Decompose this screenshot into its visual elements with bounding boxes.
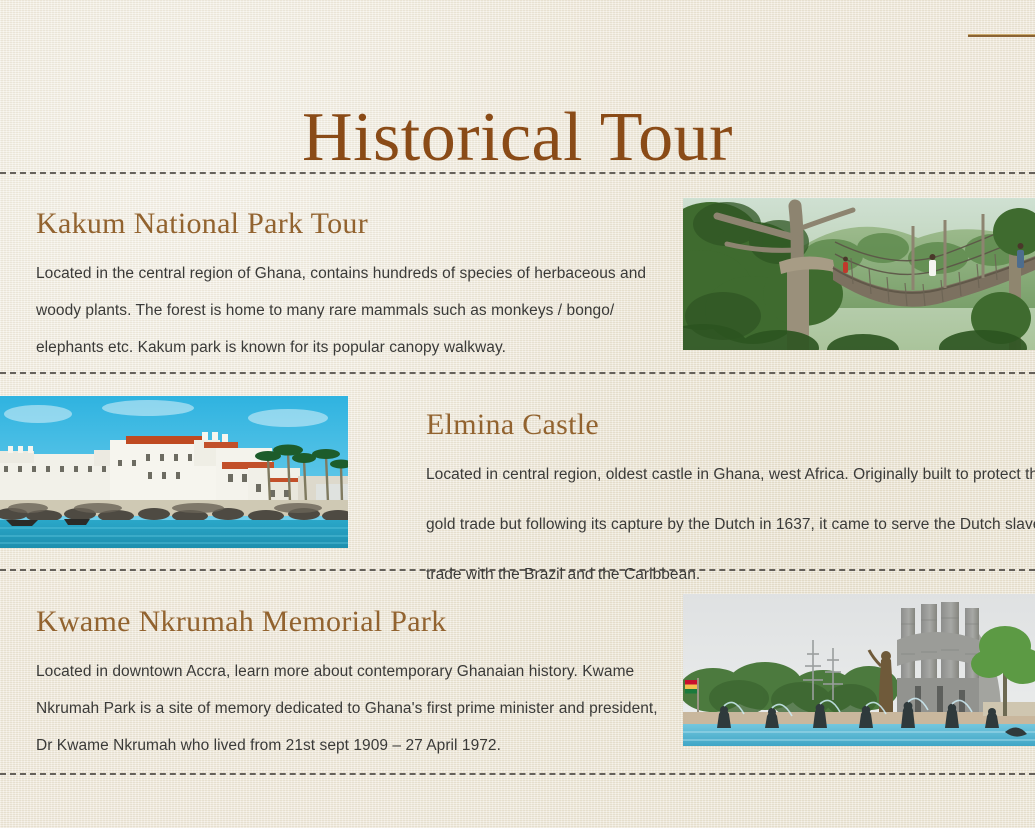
photo-elmina-castle <box>0 396 348 548</box>
divider-bottom <box>0 773 1035 775</box>
section-kwame-nkrumah-memorial-park: Kwame Nkrumah Memorial Park Located in d… <box>36 604 661 764</box>
section-body-kakum: Located in the central region of Ghana, … <box>36 255 661 366</box>
section-body-elmina-line-1: Located in central region, oldest castle… <box>426 456 1035 493</box>
corner-accent-rule <box>968 34 1035 37</box>
divider-below-title <box>0 172 1035 174</box>
kakum-canopy-walkway-image <box>683 198 1035 350</box>
page-title: Historical Tour <box>0 96 1035 180</box>
photo-kakum-canopy-walkway <box>683 198 1035 350</box>
section-heading-kakum: Kakum National Park Tour <box>36 206 661 242</box>
section-kakum-national-park: Kakum National Park Tour Located in the … <box>36 206 661 366</box>
divider-kakum-elmina <box>0 372 1035 374</box>
section-heading-nkrumah: Kwame Nkrumah Memorial Park <box>36 604 661 640</box>
section-body-nkrumah: Located in downtown Accra, learn more ab… <box>36 653 661 764</box>
kwame-nkrumah-mausoleum-image <box>683 594 1035 746</box>
section-body-elmina-line-2: gold trade but following its capture by … <box>426 506 1035 543</box>
historical-tour-slide: Historical Tour Kakum National Park Tour… <box>0 0 1035 828</box>
section-heading-elmina: Elmina Castle <box>426 407 1035 443</box>
section-elmina-castle: Elmina Castle Located in central region,… <box>426 407 1035 593</box>
section-body-elmina-line-3: trade with the Brazil and the Caribbean. <box>426 556 1035 593</box>
elmina-castle-image <box>0 396 348 548</box>
photo-nkrumah-memorial <box>683 594 1035 746</box>
